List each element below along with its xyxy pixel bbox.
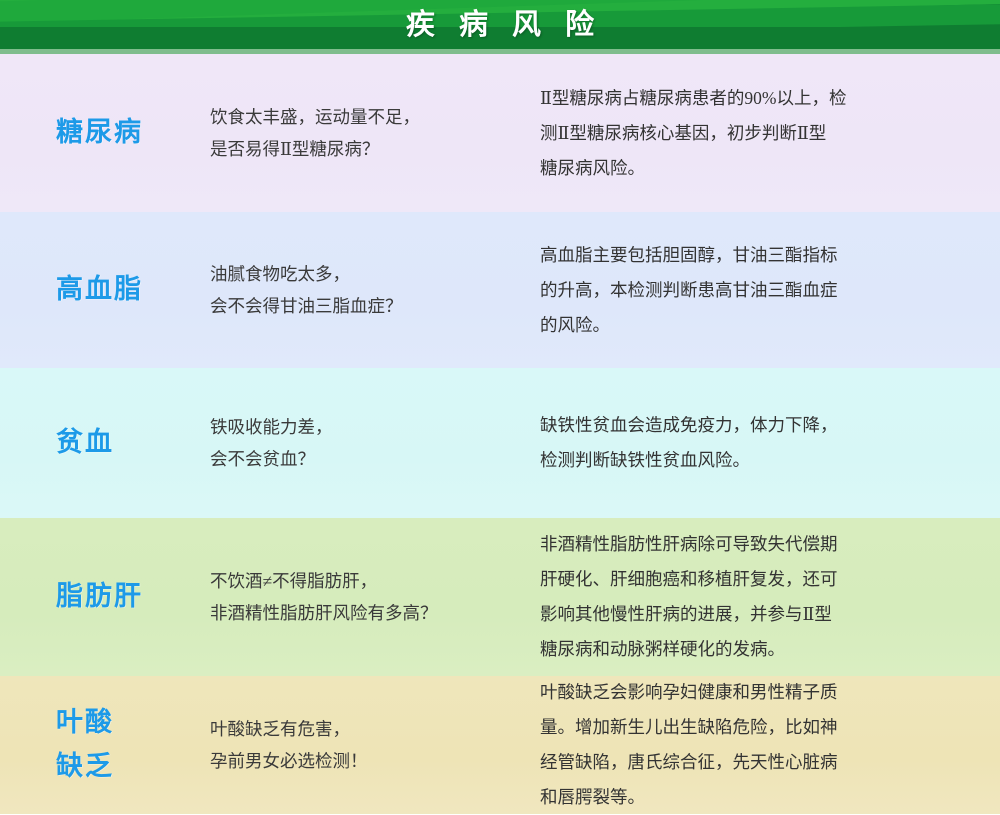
table-row: 高血脂 油腻食物吃太多， 会不会得甘油三脂血症？ 高血脂主要包括胆固醇，甘油三酯… xyxy=(0,212,1000,368)
question-line: 叶酸缺乏有危害， xyxy=(210,713,526,745)
description-line: 肝硬化、肝细胞癌和移植肝复发，还可 xyxy=(540,562,956,597)
table-row: 脂肪肝 不饮酒≠不得脂肪肝， 非酒精性脂肪肝风险有多高？ 非酒精性脂肪性肝病除可… xyxy=(0,518,1000,676)
disease-question: 不饮酒≠不得脂肪肝， 非酒精性脂肪肝风险有多高？ xyxy=(210,565,540,629)
table-row: 贫血 铁吸收能力差， 会不会贫血？ 缺铁性贫血会造成免疫力，体力下降， 检测判断… xyxy=(0,368,1000,518)
description-line: 检测判断缺铁性贫血风险。 xyxy=(540,443,956,478)
description-line: 影响其他慢性肝病的进展，并参与Ⅱ型 xyxy=(540,597,956,632)
description-line: 高血脂主要包括胆固醇，甘油三酯指标 xyxy=(540,238,956,273)
question-line: 会不会得甘油三脂血症？ xyxy=(210,290,526,322)
disease-name-line: 贫血 xyxy=(56,424,204,462)
disease-name-line: 叶酸 xyxy=(56,701,204,745)
description-line: 和唇腭裂等。 xyxy=(540,780,956,815)
disease-name-line: 高血脂 xyxy=(56,271,204,309)
disease-description: 缺铁性贫血会造成免疫力，体力下降， 检测判断缺铁性贫血风险。 xyxy=(540,408,1000,478)
header-banner: 疾 病 风 险 xyxy=(0,0,1000,54)
disease-name: 脂肪肝 xyxy=(0,578,210,616)
table-row: 叶酸 缺乏 叶酸缺乏有危害， 孕前男女必选检测！ 叶酸缺乏会影响孕妇健康和男性精… xyxy=(0,676,1000,814)
disease-question: 叶酸缺乏有危害， 孕前男女必选检测！ xyxy=(210,713,540,777)
description-line: Ⅱ型糖尿病占糖尿病患者的90%以上，检 xyxy=(540,81,956,116)
disease-name: 贫血 xyxy=(0,424,210,462)
description-line: 量。增加新生儿出生缺陷危险，比如神 xyxy=(540,710,956,745)
question-line: 是否易得Ⅱ型糖尿病？ xyxy=(210,133,526,165)
description-line: 测Ⅱ型糖尿病核心基因，初步判断Ⅱ型 xyxy=(540,116,956,151)
question-line: 会不会贫血？ xyxy=(210,443,526,475)
disease-name-line: 糖尿病 xyxy=(56,114,204,152)
description-line: 的升高，本检测判断患高甘油三酯血症 xyxy=(540,273,956,308)
disease-name-line: 脂肪肝 xyxy=(56,578,204,616)
description-line: 的风险。 xyxy=(540,308,956,343)
disease-description: 高血脂主要包括胆固醇，甘油三酯指标 的升高，本检测判断患高甘油三酯血症 的风险。 xyxy=(540,238,1000,343)
question-line: 饮食太丰盛，运动量不足， xyxy=(210,101,526,133)
description-line: 非酒精性脂肪性肝病除可导致失代偿期 xyxy=(540,527,956,562)
description-line: 缺铁性贫血会造成免疫力，体力下降， xyxy=(540,408,956,443)
question-line: 孕前男女必选检测！ xyxy=(210,745,526,777)
question-line: 不饮酒≠不得脂肪肝， xyxy=(210,565,526,597)
disease-name: 叶酸 缺乏 xyxy=(0,701,210,789)
description-line: 糖尿病风险。 xyxy=(540,151,956,186)
disease-description: Ⅱ型糖尿病占糖尿病患者的90%以上，检 测Ⅱ型糖尿病核心基因，初步判断Ⅱ型 糖尿… xyxy=(540,81,1000,186)
risk-row-list: 糖尿病 饮食太丰盛，运动量不足， 是否易得Ⅱ型糖尿病？ Ⅱ型糖尿病占糖尿病患者的… xyxy=(0,54,1000,814)
disease-name: 糖尿病 xyxy=(0,114,210,152)
description-line: 糖尿病和动脉粥样硬化的发病。 xyxy=(540,632,956,667)
description-line: 经管缺陷，唐氏综合征，先天性心脏病 xyxy=(540,745,956,780)
question-line: 非酒精性脂肪肝风险有多高？ xyxy=(210,597,526,629)
disease-risk-infographic: 疾 病 风 险 糖尿病 饮食太丰盛，运动量不足， 是否易得Ⅱ型糖尿病？ Ⅱ型糖尿… xyxy=(0,0,1000,815)
disease-question: 油腻食物吃太多， 会不会得甘油三脂血症？ xyxy=(210,258,540,322)
disease-description: 叶酸缺乏会影响孕妇健康和男性精子质 量。增加新生儿出生缺陷危险，比如神 经管缺陷… xyxy=(540,675,1000,815)
disease-description: 非酒精性脂肪性肝病除可导致失代偿期 肝硬化、肝细胞癌和移植肝复发，还可 影响其他… xyxy=(540,527,1000,667)
question-line: 油腻食物吃太多， xyxy=(210,258,526,290)
disease-name-line: 缺乏 xyxy=(56,745,204,789)
disease-name: 高血脂 xyxy=(0,271,210,309)
table-row: 糖尿病 饮食太丰盛，运动量不足， 是否易得Ⅱ型糖尿病？ Ⅱ型糖尿病占糖尿病患者的… xyxy=(0,54,1000,212)
page-title: 疾 病 风 险 xyxy=(0,0,1000,49)
disease-question: 饮食太丰盛，运动量不足， 是否易得Ⅱ型糖尿病？ xyxy=(210,101,540,165)
question-line: 铁吸收能力差， xyxy=(210,411,526,443)
disease-question: 铁吸收能力差， 会不会贫血？ xyxy=(210,411,540,475)
description-line: 叶酸缺乏会影响孕妇健康和男性精子质 xyxy=(540,675,956,710)
